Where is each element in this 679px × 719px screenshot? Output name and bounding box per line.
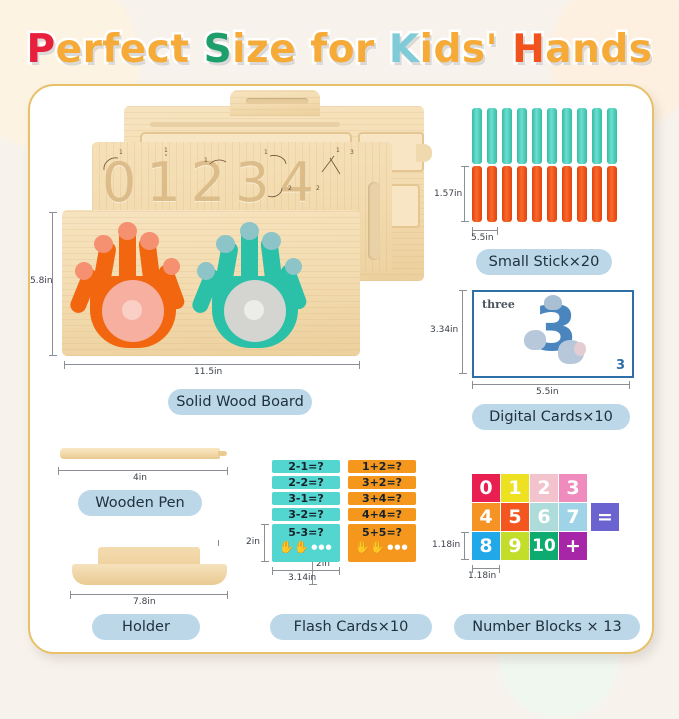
flash-card-right: 3+2=? — [348, 476, 416, 489]
svg-text:3: 3 — [350, 149, 354, 156]
number-block-1: 1 — [501, 474, 529, 502]
number-block-10: 10 — [530, 532, 558, 560]
svg-text:1: 1 — [336, 147, 340, 154]
title-part-6: H — [512, 27, 545, 72]
flash-card-left: 3-1=? — [272, 492, 340, 505]
stick-teal — [577, 108, 587, 164]
number-block-2: 2 — [530, 474, 558, 502]
stick-width-dim-text: 5.5in — [471, 233, 494, 243]
flash-card-right: 1+2=? — [348, 460, 416, 473]
number-block-6: 6 — [530, 503, 558, 531]
number-block-3: 3 — [559, 474, 587, 502]
title-part-2: S — [204, 27, 233, 72]
number-block-5: 5 — [501, 503, 529, 531]
number-block-7: 7 — [559, 503, 587, 531]
stick-orange — [532, 166, 542, 222]
holder-width-dim-line — [70, 594, 228, 595]
fingertip-orange-middle — [118, 222, 137, 240]
hand-shape-teal — [192, 214, 332, 350]
wooden-pen-tip — [218, 451, 227, 456]
number-block-height-dim-line — [464, 532, 465, 560]
flash-card-left: 2-2=? — [272, 476, 340, 489]
page-title: Perfect Size for Kids' Hands — [0, 24, 679, 76]
label-wooden-pen: Wooden Pen — [78, 490, 202, 516]
wood-board-width-dim-text: 11.5in — [194, 367, 222, 377]
wood-board-width-dim-line — [64, 364, 360, 365]
title-part-7: ands — [545, 27, 652, 72]
flash-card-right: 4+4=? — [348, 508, 416, 521]
stick-orange — [502, 166, 512, 222]
holder-width-dim-text: 7.8in — [133, 597, 156, 607]
digital-card-corner-number: 3 — [616, 358, 625, 373]
elephant-icon-top — [544, 295, 562, 310]
hand-shape-orange — [70, 214, 210, 350]
label-holder: Holder — [92, 614, 200, 640]
stick-teal — [487, 108, 497, 164]
elephant-icon-left — [524, 330, 546, 350]
label-digital-cards: Digital Cards×10 — [472, 404, 630, 430]
fingertip-teal-ring — [262, 232, 281, 250]
wood-board-back-slot — [246, 98, 308, 104]
number-block-plus: + — [559, 532, 587, 560]
flash-card-hand-dot-row: ✋✋ ●●● — [355, 541, 408, 553]
number-block-8: 8 — [472, 532, 500, 560]
dot-grid-icon: ●●● — [387, 544, 408, 551]
stick-teal — [562, 108, 572, 164]
flash-card-left: 3-2=? — [272, 508, 340, 521]
svg-text:1: 1 — [164, 147, 168, 154]
hand-palm-orange-knob — [122, 300, 142, 320]
flash-card-width-dim-text: 3.14in — [288, 573, 316, 583]
product-spec-panel: 01234 11 11 21 23 — [28, 84, 654, 654]
svg-text:1: 1 — [264, 149, 268, 156]
stick-teal — [592, 108, 602, 164]
label-flash-cards: Flash Cards×10 — [270, 614, 432, 640]
holder-base — [72, 564, 227, 585]
wooden-pen-width-dim-text: 4in — [133, 473, 147, 483]
number-block-0: 0 — [472, 474, 500, 502]
wooden-pen — [60, 448, 220, 459]
number-block-width-dim-line — [472, 568, 500, 569]
digital-card-word: three — [482, 298, 515, 311]
stick-orange — [547, 166, 557, 222]
wood-board-back-notch — [416, 144, 432, 162]
stick-orange — [517, 166, 527, 222]
stick-orange — [487, 166, 497, 222]
label-small-stick: Small Stick×20 — [476, 249, 612, 275]
fingertip-teal-index — [216, 235, 235, 253]
fingertip-orange-index — [94, 235, 113, 253]
digital-card-height-dim-text: 3.34in — [430, 325, 458, 335]
title-part-0: P — [27, 27, 56, 72]
wood-board-height-dim-text: 5.8in — [30, 276, 53, 286]
digital-card-width-dim-line — [472, 384, 630, 385]
digital-card-height-dim-line — [462, 290, 463, 374]
flash-card-right-illustrated: 5+5=? ✋✋ ●●● — [348, 524, 416, 562]
flash-card-right: 3+4=? — [348, 492, 416, 505]
fingertip-teal-pinky — [285, 258, 302, 275]
svg-text:2: 2 — [288, 185, 292, 192]
wooden-pen-width-dim-line — [58, 470, 228, 471]
svg-text:1: 1 — [119, 149, 123, 156]
dot-grid-icon: ●●● — [311, 544, 332, 551]
stick-teal — [472, 108, 482, 164]
stick-height-dim-text: 1.57in — [434, 189, 462, 199]
flash-card-hand-dot-row: ✋✋ ●●● — [279, 541, 332, 553]
stick-teal — [547, 108, 557, 164]
fingertip-orange-pinky — [163, 258, 180, 275]
fingertip-orange-ring — [140, 232, 159, 250]
flash-cards-group: 2-1=? 2-2=? 3-1=? 3-2=? 5-3=? ✋✋ ●●● 1+2… — [272, 460, 432, 576]
flash-card-left: 2-1=? — [272, 460, 340, 473]
number-block-9: 9 — [501, 532, 529, 560]
stick-orange — [562, 166, 572, 222]
title-part-5: ids' — [420, 27, 513, 72]
flash-card-height-dim-text: 2in — [246, 537, 260, 547]
title-part-3: ize for — [232, 27, 389, 72]
number-block-height-dim-text: 1.18in — [432, 540, 460, 550]
flash-card-width-dim-line — [272, 570, 340, 571]
fingertip-teal-middle — [240, 222, 259, 240]
wood-board-back-groove — [150, 122, 340, 127]
stick-height-dim-line — [464, 166, 465, 222]
number-block-4: 4 — [472, 503, 500, 531]
holder-tick-mark — [218, 540, 219, 546]
digital-card: three 3 3 — [472, 290, 634, 378]
stick-orange — [592, 166, 602, 222]
title-part-4: K — [389, 27, 420, 72]
number-blocks-group: 0 1 2 3 4 5 6 7 = 8 9 10 + — [472, 474, 622, 564]
stick-orange — [577, 166, 587, 222]
svg-text:2: 2 — [316, 185, 320, 192]
hand-palm-teal-knob — [244, 300, 264, 320]
small-sticks-group — [472, 108, 630, 222]
stick-teal — [502, 108, 512, 164]
number-block-width-dim-text: 1.18in — [468, 571, 496, 581]
digital-card-width-dim-text: 5.5in — [536, 387, 559, 397]
stick-teal — [532, 108, 542, 164]
title-part-1: erfect — [56, 27, 204, 72]
flash-card-left-illustrated: 5-3=? ✋✋ ●●● — [272, 524, 340, 562]
wood-board-tracing-pen-groove — [368, 182, 380, 260]
hand-icon: ✋✋ — [355, 541, 385, 553]
elephant-ear-right — [574, 342, 586, 356]
stick-teal — [607, 108, 617, 164]
hand-icon: ✋✋ — [279, 541, 309, 553]
stick-teal — [517, 108, 527, 164]
stick-width-dim-line — [472, 230, 498, 231]
stick-orange — [607, 166, 617, 222]
label-number-blocks: Number Blocks × 13 — [454, 614, 640, 640]
number-block-equals: = — [591, 503, 619, 531]
svg-text:1: 1 — [204, 157, 208, 164]
label-solid-wood-board: Solid Wood Board — [168, 389, 312, 415]
flash-card-height-dim-line — [264, 524, 265, 562]
stick-orange — [472, 166, 482, 222]
